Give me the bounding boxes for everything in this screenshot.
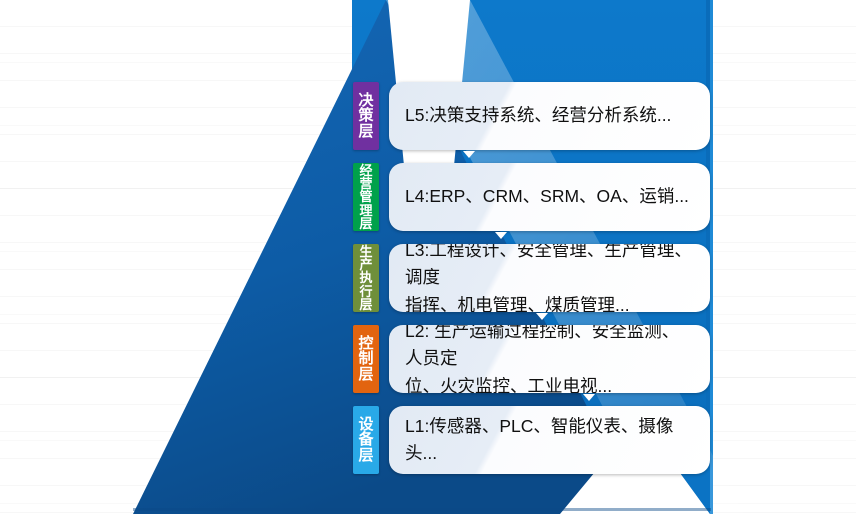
chip-char: 层	[358, 448, 373, 463]
level-card-l3[interactable]: L3:工程设计、安全管理、生产管理、调度 指挥、机电管理、煤质管理...	[389, 244, 710, 312]
level-card-l1[interactable]: L1:传感器、PLC、智能仪表、摄像头...	[389, 406, 710, 474]
chip-char: 层	[359, 217, 372, 230]
level-card-text-l2: L2: 生产运输过程控制、安全监测、人员定 位、火灾监控、工业电视...	[405, 325, 694, 393]
chip-char: 层	[358, 124, 373, 139]
level-card-l2[interactable]: L2: 生产运输过程控制、安全监测、人员定 位、火灾监控、工业电视...	[389, 325, 710, 393]
chip-char: 层	[359, 298, 372, 311]
level-card-l4[interactable]: L4:ERP、CRM、SRM、OA、运销...	[389, 163, 710, 231]
chip-char: 管	[359, 190, 372, 203]
level-row-l3[interactable]: 生 产 执 行 层 L3:工程设计、安全管理、生产管理、调度 指挥、机电管理、煤…	[353, 244, 710, 312]
row-notch-l2	[583, 394, 595, 401]
level-row-l5[interactable]: 决 策 层 L5:决策支持系统、经营分析系统...	[353, 82, 710, 150]
level-card-text-l1: L1:传感器、PLC、智能仪表、摄像头...	[405, 413, 694, 467]
level-chip-l2[interactable]: 控 制 层	[353, 325, 379, 393]
chip-char: 执	[359, 271, 372, 284]
level-row-l2[interactable]: 控 制 层 L2: 生产运输过程控制、安全监测、人员定 位、火灾监控、工业电视.…	[353, 325, 710, 393]
level-card-text-l5: L5:决策支持系统、经营分析系统...	[405, 102, 671, 129]
level-chip-l1[interactable]: 设 备 层	[353, 406, 379, 474]
level-row-l4[interactable]: 经 营 管 理 层 L4:ERP、CRM、SRM、OA、运销...	[353, 163, 710, 231]
row-notch-l5	[463, 151, 475, 158]
chip-char: 经	[359, 164, 372, 177]
row-notch-l4	[495, 232, 507, 239]
chip-char: 备	[358, 432, 373, 447]
chip-char: 理	[359, 204, 372, 217]
level-row-l1[interactable]: 设 备 层 L1:传感器、PLC、智能仪表、摄像头...	[353, 406, 710, 474]
chip-char: 营	[359, 177, 372, 190]
chip-char: 产	[359, 258, 372, 271]
chip-char: 策	[358, 108, 373, 123]
slide-canvas: 决 策 层 L5:决策支持系统、经营分析系统... 经 营 管 理 层 L4:E…	[0, 0, 856, 514]
row-notch-l3	[536, 313, 548, 320]
chip-char: 层	[358, 367, 373, 382]
chip-char: 行	[359, 285, 372, 298]
level-rows: 决 策 层 L5:决策支持系统、经营分析系统... 经 营 管 理 层 L4:E…	[0, 0, 856, 514]
level-chip-l3[interactable]: 生 产 执 行 层	[353, 244, 379, 312]
level-card-l5[interactable]: L5:决策支持系统、经营分析系统...	[389, 82, 710, 150]
level-card-text-l3: L3:工程设计、安全管理、生产管理、调度 指挥、机电管理、煤质管理...	[405, 244, 694, 312]
chip-char: 制	[358, 351, 373, 366]
level-chip-l5[interactable]: 决 策 层	[353, 82, 379, 150]
chip-char: 生	[359, 245, 372, 258]
level-chip-l4[interactable]: 经 营 管 理 层	[353, 163, 379, 231]
level-card-text-l4: L4:ERP、CRM、SRM、OA、运销...	[405, 183, 689, 210]
